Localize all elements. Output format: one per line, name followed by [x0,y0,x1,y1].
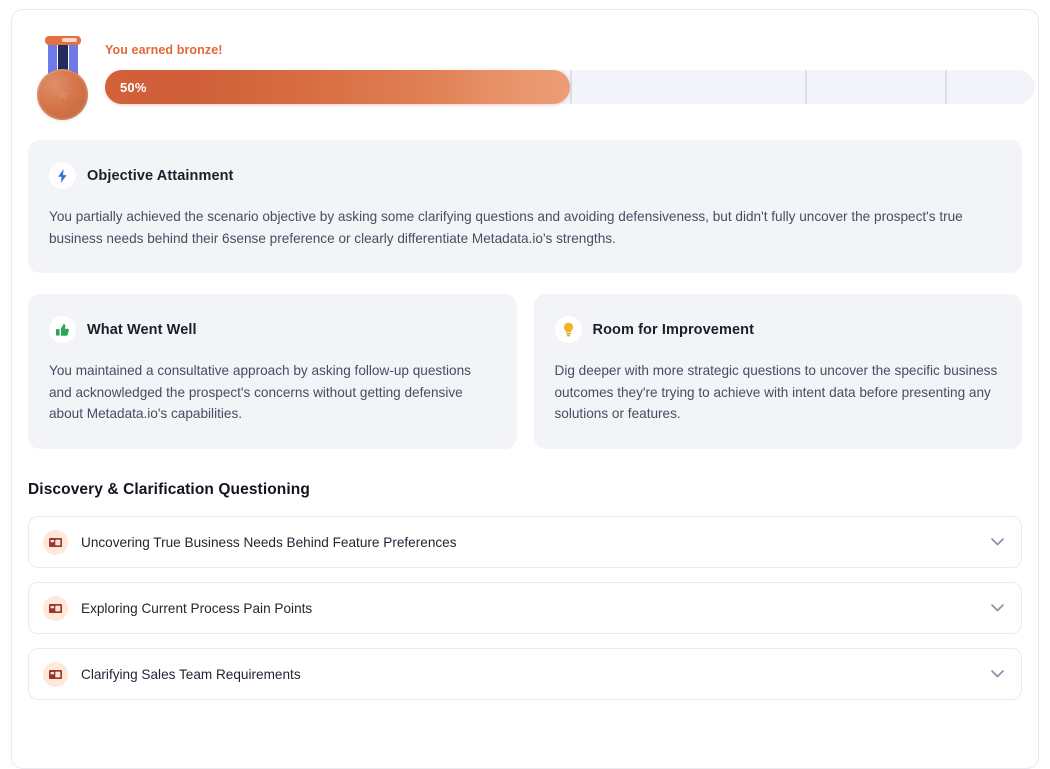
objective-attainment-card: Objective Attainment You partially achie… [28,140,1022,273]
what-went-well-card: What Went Well You maintained a consulta… [28,294,517,449]
card-badge-icon [43,530,68,555]
lightning-bolt-icon [49,162,76,189]
questioning-accordion: Uncovering True Business Needs Behind Fe… [28,516,1022,700]
accordion-item-label: Clarifying Sales Team Requirements [81,667,989,682]
card-badge-icon [43,662,68,687]
chevron-down-icon[interactable] [989,534,1005,550]
what-went-well-header: What Went Well [49,316,496,343]
card-badge-icon [43,596,68,621]
progress-tick [945,70,947,104]
progress-tick [805,70,807,104]
accordion-item-uncovering-true-business-needs[interactable]: Uncovering True Business Needs Behind Fe… [28,516,1022,568]
chevron-down-icon[interactable] [989,600,1005,616]
earned-badge-label: You earned bronze! [105,43,223,57]
chevron-down-icon[interactable] [989,666,1005,682]
thumbs-up-icon [49,316,76,343]
feedback-page-card: You earned bronze! 50% ★ Objective Attai… [11,9,1039,769]
objective-header: Objective Attainment [49,162,1001,189]
score-progress[interactable]: 50% [105,70,1035,104]
what-went-well-body: You maintained a consultative approach b… [49,360,496,425]
progress-percent-label: 50% [120,80,147,95]
objective-body: You partially achieved the scenario obje… [49,206,1001,249]
what-went-well-title: What Went Well [87,322,197,338]
accordion-item-label: Uncovering True Business Needs Behind Fe… [81,535,989,550]
objective-title: Objective Attainment [87,168,234,184]
accordion-item-exploring-current-process-pain-points[interactable]: Exploring Current Process Pain Points [28,582,1022,634]
room-for-improvement-body: Dig deeper with more strategic questions… [555,360,1002,425]
accordion-item-label: Exploring Current Process Pain Points [81,601,989,616]
lightbulb-icon [555,316,582,343]
star-icon: ★ [55,86,70,103]
progress-fill: 50% [105,70,570,104]
bronze-coin-badge: ★ [37,69,88,120]
feedback-columns: What Went Well You maintained a consulta… [28,294,1022,449]
section-heading: Discovery & Clarification Questioning [28,481,1038,499]
progress-tick [570,70,572,104]
room-for-improvement-title: Room for Improvement [593,322,755,338]
score-hero: You earned bronze! 50% ★ [12,10,1038,120]
accordion-item-clarifying-sales-team-requirements[interactable]: Clarifying Sales Team Requirements [28,648,1022,700]
room-for-improvement-header: Room for Improvement [555,316,1002,343]
room-for-improvement-card: Room for Improvement Dig deeper with mor… [534,294,1023,449]
